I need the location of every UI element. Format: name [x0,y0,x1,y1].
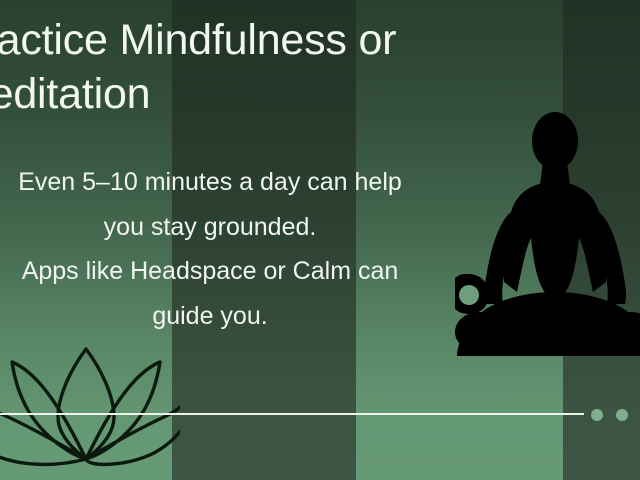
text-layer: Practice Mindfulness or Meditation Even … [0,0,640,480]
slide-body-text: Even 5–10 minutes a day can help you sta… [0,160,456,338]
slide-canvas: Practice Mindfulness or Meditation Even … [0,0,640,480]
slide-title: Practice Mindfulness or Meditation [0,14,514,122]
